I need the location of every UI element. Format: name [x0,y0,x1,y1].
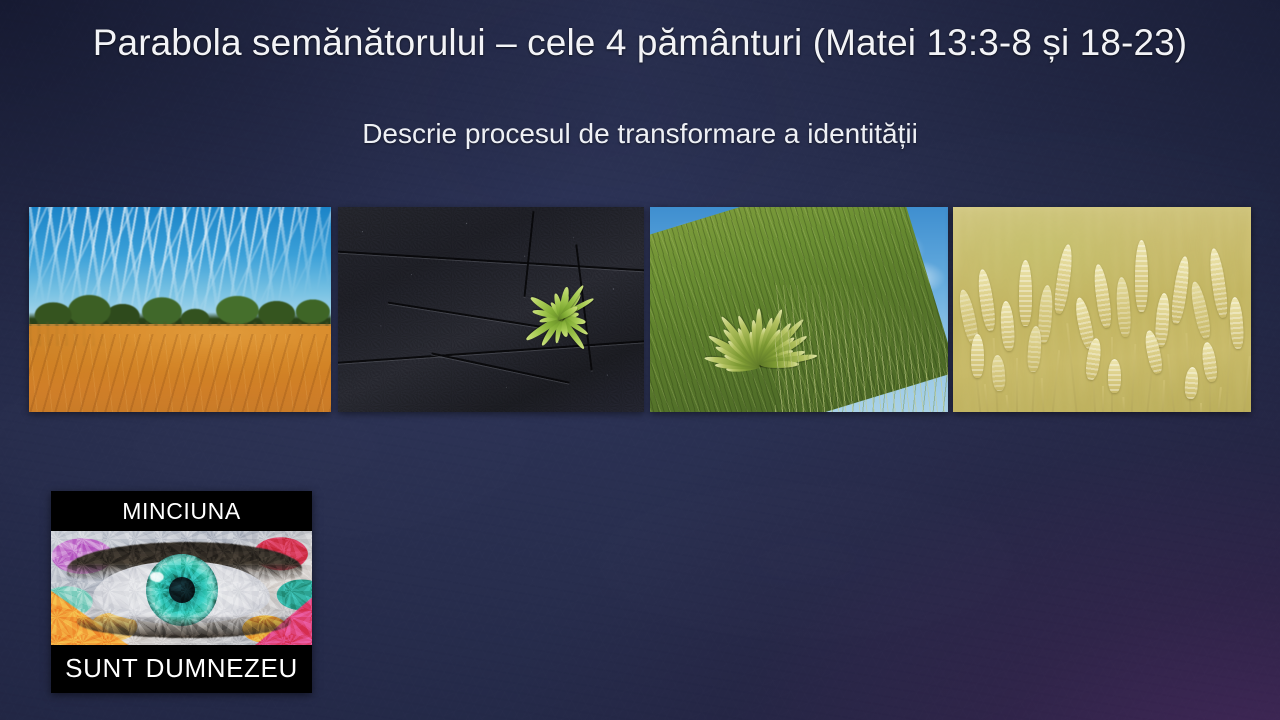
wheat-ear [1169,256,1191,325]
low-poly-eye-image [51,531,312,645]
eye-facet-overlay [51,531,312,645]
wheat-ear [976,268,998,331]
wheat-ear [1115,276,1132,337]
wheat-stem [1041,378,1046,412]
wheat-stem [1241,356,1251,412]
wheat-ear [990,354,1005,391]
wheat-stem [1122,397,1125,412]
wheat-stem [1102,386,1104,412]
page-subtitle: Descrie procesul de transformare a ident… [0,118,1280,150]
cracked-asphalt-photo [338,207,644,412]
photo-strip [29,207,1251,412]
wheat-stem [1224,327,1232,412]
wheat-stem [1066,323,1080,412]
wheat-stem [1216,387,1222,412]
wheat-ear [1201,342,1219,383]
wheat-stem [1005,395,1010,412]
wheat-ear [999,301,1015,352]
page-title: Parabola semănătorului – cele 4 pământur… [0,22,1280,64]
wheat-stem [1130,344,1137,412]
wheat-ear [1092,264,1114,329]
slide-canvas: Parabola semănătorului – cele 4 pământur… [0,0,1280,720]
grass-blades [775,285,948,412]
wheat-ear [1026,325,1042,372]
wheat-stem [1160,380,1164,412]
wheat-ear [1207,247,1230,318]
wheat-stem [984,384,990,412]
weed-plant [497,264,626,371]
dirt-road-photo [29,207,331,412]
wheat-stem [1200,403,1202,412]
wheat-ear [971,334,984,378]
wheat-ear [1135,240,1148,312]
wheat-ear [1188,280,1213,339]
wheat-stem [1016,358,1018,412]
lie-card-bottom-label: SUNT DUMNEZEU [51,645,312,693]
wheat-ear [1052,243,1075,314]
wheat-ear [1019,260,1032,326]
road-ruts [29,334,331,412]
lie-card-top-label: MINCIUNA [51,491,312,531]
lie-card: MINCIUNA SUNT DUMNEZEU [51,491,312,693]
thorny-plant-hill-photo [650,207,948,412]
wheat-ear [1184,366,1199,399]
wheat-ear [1108,359,1121,393]
wheat-stem [1050,350,1060,412]
wheat-field-photo [953,207,1251,412]
wheat-stem [1167,354,1177,412]
wheat-ears [953,207,1251,412]
